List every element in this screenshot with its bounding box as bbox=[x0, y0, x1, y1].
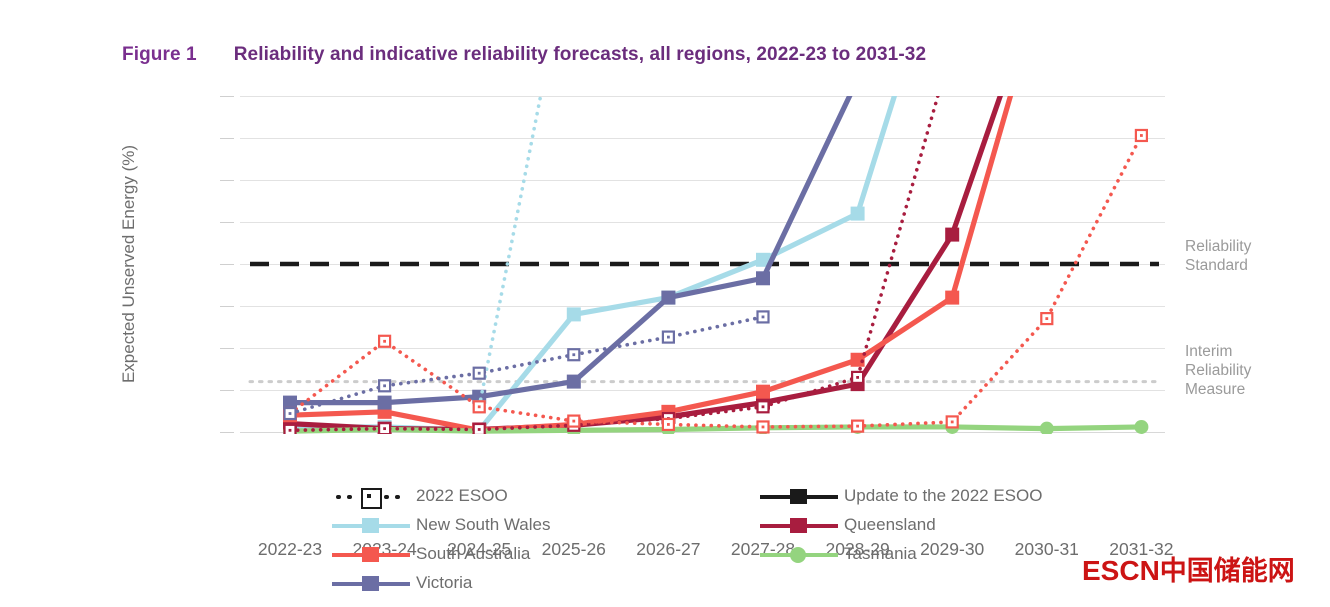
data-point-marker bbox=[1040, 422, 1054, 436]
data-point-dot bbox=[856, 425, 859, 428]
data-point-dot bbox=[383, 384, 386, 387]
chart-series-layer bbox=[240, 96, 1165, 432]
data-point-dot bbox=[1140, 134, 1143, 137]
y-axis-tick-mark bbox=[220, 222, 234, 223]
data-point-dot bbox=[478, 405, 481, 408]
legend-label: Tasmania bbox=[844, 544, 917, 564]
legend-square-icon bbox=[790, 489, 807, 504]
legend-swatch bbox=[332, 485, 410, 507]
data-point-dot bbox=[762, 316, 765, 319]
data-point-dot bbox=[289, 412, 292, 415]
data-point-dot bbox=[383, 427, 386, 430]
legend-item[interactable]: Tasmania bbox=[760, 542, 917, 566]
legend-label: South Australia bbox=[416, 544, 530, 564]
y-axis-tick-mark bbox=[220, 348, 234, 349]
data-point-marker bbox=[1134, 420, 1148, 434]
watermark-latin: ESCN bbox=[1082, 555, 1160, 586]
data-point-dot bbox=[383, 340, 386, 343]
data-point-dot bbox=[667, 336, 670, 339]
x-axis-tick-label: 2022-23 bbox=[258, 539, 322, 560]
y-axis-tick-mark bbox=[220, 432, 234, 433]
data-point-marker bbox=[945, 228, 959, 242]
y-axis-tick-mark bbox=[220, 390, 234, 391]
legend-label: Victoria bbox=[416, 573, 472, 593]
watermark-chinese: 中国储能网 bbox=[1160, 556, 1295, 587]
legend-square-icon bbox=[362, 547, 379, 562]
legend-item[interactable]: Update to the 2022 ESOO bbox=[760, 484, 1042, 508]
legend-swatch bbox=[332, 543, 410, 565]
annotation-reliability-standard: Reliability Standard bbox=[1185, 237, 1251, 275]
series-line bbox=[290, 427, 1141, 431]
data-point-marker bbox=[756, 271, 770, 285]
legend-item[interactable]: South Australia bbox=[332, 542, 530, 566]
data-point-marker bbox=[945, 291, 959, 305]
data-point-dot bbox=[289, 429, 292, 432]
data-point-marker bbox=[567, 375, 581, 389]
figure-label: Figure 1 bbox=[122, 44, 197, 66]
y-axis-tick-mark bbox=[220, 138, 234, 139]
data-point-dot bbox=[856, 376, 859, 379]
y-axis-tick-mark bbox=[220, 306, 234, 307]
legend-swatch bbox=[760, 485, 838, 507]
legend-label: Update to the 2022 ESOO bbox=[844, 486, 1042, 506]
data-point-dot bbox=[951, 421, 954, 424]
page-title: Reliability and indicative reliability f… bbox=[234, 44, 926, 66]
legend-item[interactable]: Victoria bbox=[332, 571, 472, 595]
legend-item[interactable]: New South Wales bbox=[332, 513, 550, 537]
data-point-dot bbox=[1045, 317, 1048, 320]
data-point-marker bbox=[567, 307, 581, 321]
legend-item[interactable]: Queensland bbox=[760, 513, 936, 537]
legend-swatch bbox=[760, 514, 838, 536]
legend-swatch bbox=[332, 514, 410, 536]
y-axis-title: Expected Unserved Energy (%) bbox=[116, 96, 142, 432]
figure-container: Figure 1 Reliability and indicative reli… bbox=[0, 0, 1330, 607]
series-line bbox=[290, 317, 763, 414]
data-point-marker bbox=[378, 396, 392, 410]
data-point-dot bbox=[762, 426, 765, 429]
y-axis-tick-mark bbox=[220, 264, 234, 265]
y-axis-tick-mark bbox=[220, 96, 234, 97]
data-point-dot bbox=[478, 428, 481, 431]
data-point-dot bbox=[762, 405, 765, 408]
legend-square-icon bbox=[790, 518, 807, 533]
legend-swatch bbox=[332, 572, 410, 594]
data-point-dot bbox=[572, 353, 575, 356]
data-point-marker bbox=[661, 291, 675, 305]
annotation-interim-reliability-measure: Interim Reliability Measure bbox=[1185, 342, 1251, 399]
legend-square-icon bbox=[362, 518, 379, 533]
figure-caption: Figure 1 Reliability and indicative reli… bbox=[122, 44, 926, 66]
data-point-marker bbox=[851, 207, 865, 221]
legend-circle-icon bbox=[790, 547, 806, 563]
chart-plot-area: 00.00050.0010.00150.0020.00250.0030.0035… bbox=[240, 96, 1165, 432]
legend-label: 2022 ESOO bbox=[416, 486, 508, 506]
legend-hollow-square-icon bbox=[361, 488, 382, 509]
data-point-dot bbox=[667, 423, 670, 426]
legend-square-icon bbox=[362, 576, 379, 591]
legend-swatch bbox=[760, 543, 838, 565]
chart-legend: 2022 ESOOUpdate to the 2022 ESOONew Sout… bbox=[332, 484, 1162, 594]
legend-item[interactable]: 2022 ESOO bbox=[332, 484, 508, 508]
data-point-marker bbox=[756, 385, 770, 399]
legend-label: Queensland bbox=[844, 515, 936, 535]
watermark: ESCN中国储能网 bbox=[1082, 549, 1295, 588]
data-point-dot bbox=[572, 420, 575, 423]
y-axis-tick-mark bbox=[220, 180, 234, 181]
data-point-dot bbox=[478, 372, 481, 375]
legend-label: New South Wales bbox=[416, 515, 550, 535]
